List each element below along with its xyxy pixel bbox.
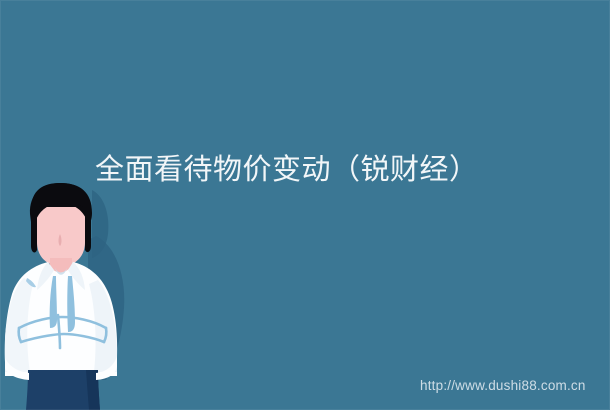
watermark-url: http://www.dushi88.com.cn xyxy=(420,378,586,393)
person-illustration-svg xyxy=(0,180,140,410)
face xyxy=(37,207,85,266)
page-title: 全面看待物价变动（锐财经） xyxy=(95,148,525,192)
image-canvas: 全面看待物价变动（锐财经） http://www.dushi88.com.cn xyxy=(0,0,610,410)
person-illustration xyxy=(0,180,140,410)
